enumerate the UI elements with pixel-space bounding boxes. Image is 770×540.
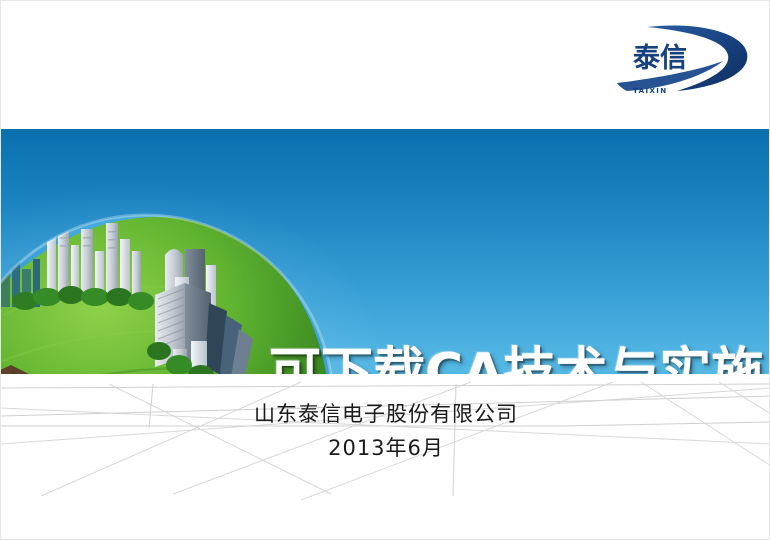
company-name: 山东泰信电子股份有限公司 [1,397,770,431]
hero-banner: 可下载CA技术与实施 [1,129,770,374]
presentation-slide: 泰信 TAIXIN [0,0,770,540]
slide-title: 可下载CA技术与实施 [269,342,761,374]
slide-header: 泰信 TAIXIN [1,1,770,129]
presentation-date: 2013年6月 [1,431,770,465]
logo-wordmark-en: TAIXIN [633,87,668,95]
logo-wordmark-cn: 泰信 [633,43,687,74]
taixin-logo: 泰信 TAIXIN [611,23,759,99]
footer-text-block: 山东泰信电子股份有限公司 2013年6月 [1,397,770,465]
